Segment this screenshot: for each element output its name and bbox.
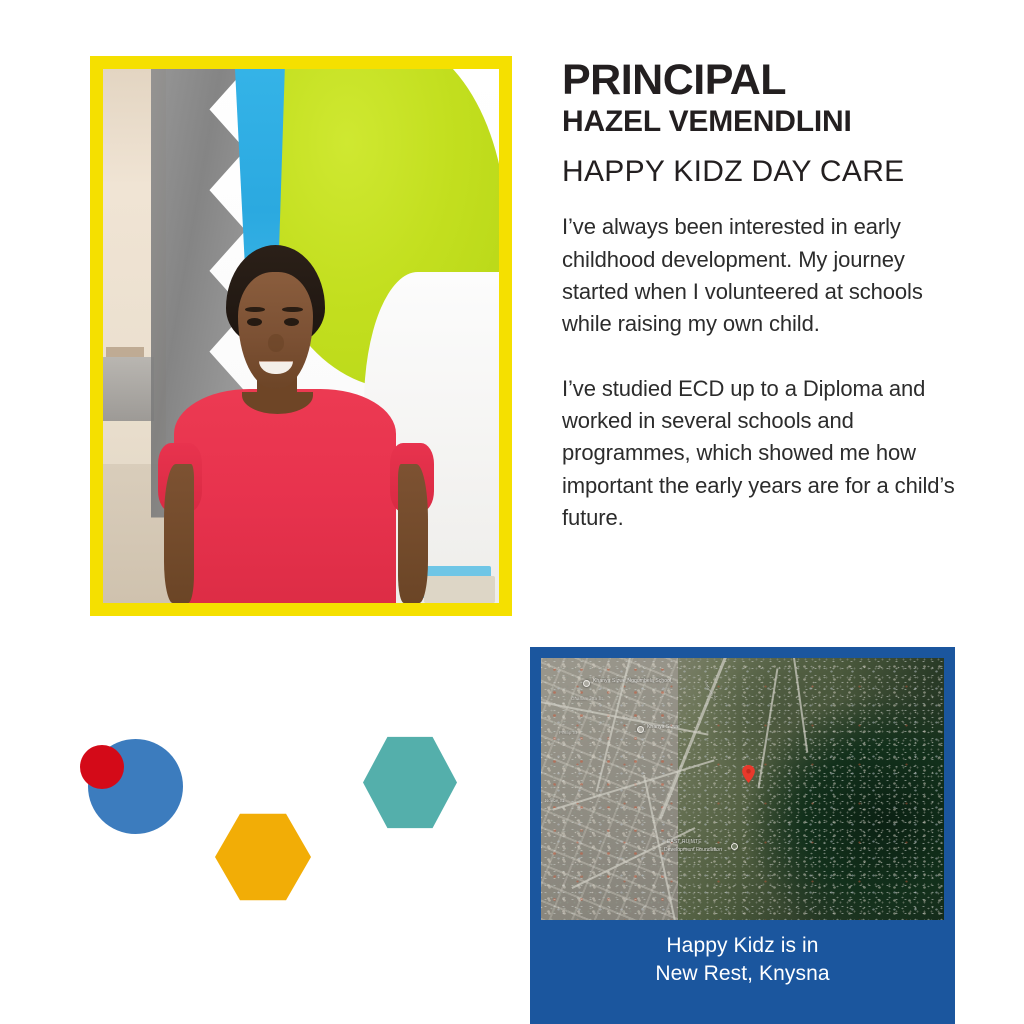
map-caption-line-1: Happy Kidz is in bbox=[530, 932, 955, 960]
map-poi-marker[interactable] bbox=[583, 680, 590, 687]
map-poi-label-foundation-line2: Development Foundation bbox=[664, 847, 722, 853]
map-poi-label: Khanya Sizwe bbox=[647, 724, 680, 730]
portrait-eye-left bbox=[247, 318, 262, 326]
principal-portrait-figure bbox=[103, 69, 499, 603]
hexagon-teal-shape bbox=[363, 735, 457, 830]
map-caption-line-2: New Rest, Knysna bbox=[530, 960, 955, 988]
map-street-label: Phillip St bbox=[559, 730, 577, 735]
bio-paragraph-1: I’ve always been interested in early chi… bbox=[562, 211, 958, 340]
role-title: PRINCIPAL bbox=[562, 58, 958, 103]
location-pin-icon[interactable] bbox=[742, 765, 755, 783]
school-name: HAPPY KIDZ DAY CARE bbox=[562, 155, 958, 190]
circle-blue-shape bbox=[88, 739, 183, 834]
bio-text-block: PRINCIPAL HAZEL VEMENDLINI HAPPY KIDZ DA… bbox=[562, 58, 958, 534]
bio-paragraph-2: I’ve studied ECD up to a Diploma and wor… bbox=[562, 373, 958, 535]
portrait-eye-right bbox=[284, 318, 299, 326]
portrait-arm-left bbox=[164, 464, 194, 603]
map-street-label: Ndebe St bbox=[545, 798, 564, 803]
map-poi-marker[interactable] bbox=[637, 726, 644, 733]
portrait-arm-right bbox=[398, 464, 428, 603]
map-street-label: Ghanamusta St bbox=[571, 696, 603, 701]
portrait-nose bbox=[268, 334, 285, 352]
portrait-red-top bbox=[174, 389, 396, 603]
poster-page: PRINCIPAL HAZEL VEMENDLINI HAPPY KIDZ DA… bbox=[0, 0, 1024, 1024]
principal-photo-card bbox=[90, 56, 512, 616]
hexagon-yellow-shape bbox=[215, 812, 311, 902]
map-poi-label-foundation: EAST RUIMTE bbox=[667, 839, 702, 845]
map-poi-marker[interactable] bbox=[731, 843, 738, 850]
circle-red-shape bbox=[80, 745, 124, 789]
principal-name: HAZEL VEMENDLINI bbox=[562, 105, 958, 139]
map-poi-label: Khanya Sizwe Ngqumbela School bbox=[593, 678, 671, 684]
satellite-map-image[interactable]: Khanya Sizwe Ngqumbela School Khanya Siz… bbox=[541, 658, 944, 920]
location-map-panel: Khanya Sizwe Ngqumbela School Khanya Siz… bbox=[530, 647, 955, 1024]
map-caption: Happy Kidz is in New Rest, Knysna bbox=[530, 932, 955, 988]
principal-photo bbox=[103, 69, 499, 603]
